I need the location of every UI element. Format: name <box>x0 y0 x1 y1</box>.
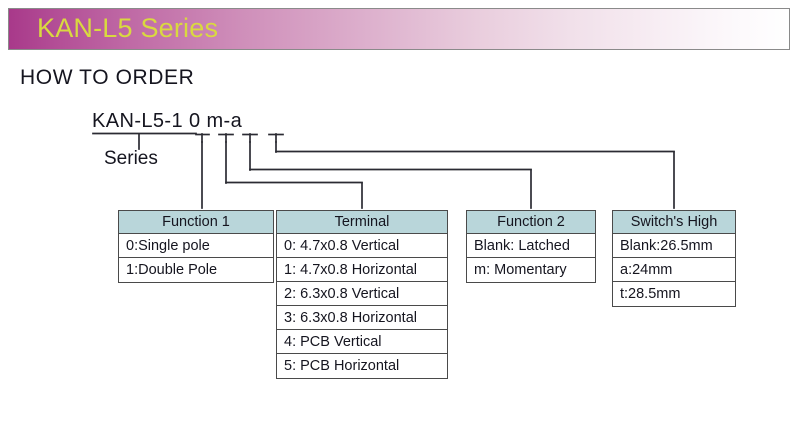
option-table-switch-high: Switch's High Blank:26.5mm a:24mm t:28.5… <box>612 210 736 307</box>
table-header: Function 2 <box>467 211 595 234</box>
table-header: Switch's High <box>613 211 735 234</box>
series-banner: KAN-L5 Series <box>8 8 790 50</box>
table-row: 0:Single pole <box>119 234 273 258</box>
table-row: 2: 6.3x0.8 Vertical <box>277 282 447 306</box>
page-title: HOW TO ORDER <box>20 66 194 90</box>
option-table-terminal: Terminal 0: 4.7x0.8 Vertical 1: 4.7x0.8 … <box>276 210 448 379</box>
table-row: 1:Double Pole <box>119 258 273 282</box>
part-number-code: KAN-L5-1 0 m-a <box>92 110 242 133</box>
table-row: m: Momentary <box>467 258 595 282</box>
option-table-function2: Function 2 Blank: Latched m: Momentary <box>466 210 596 283</box>
banner-title: KAN-L5 Series <box>37 13 218 44</box>
option-table-function1: Function 1 0:Single pole 1:Double Pole <box>118 210 274 283</box>
table-row: 4: PCB Vertical <box>277 330 447 354</box>
table-header: Terminal <box>277 211 447 234</box>
table-row: 1: 4.7x0.8 Horizontal <box>277 258 447 282</box>
table-row: 5: PCB Horizontal <box>277 354 447 378</box>
table-row: 0: 4.7x0.8 Vertical <box>277 234 447 258</box>
table-row: Blank:26.5mm <box>613 234 735 258</box>
table-row: Blank: Latched <box>467 234 595 258</box>
table-row: a:24mm <box>613 258 735 282</box>
table-row: 3: 6.3x0.8 Horizontal <box>277 306 447 330</box>
table-row: t:28.5mm <box>613 282 735 306</box>
table-header: Function 1 <box>119 211 273 234</box>
series-label: Series <box>104 148 158 170</box>
